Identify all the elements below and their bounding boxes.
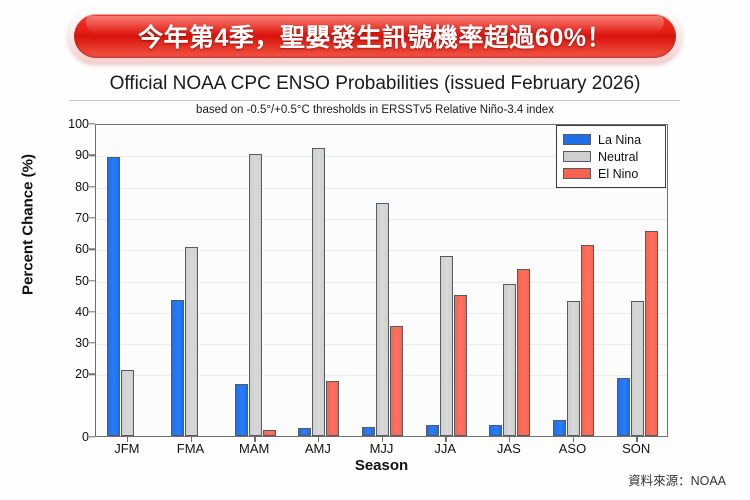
x-tick-label-jfm: JFM xyxy=(92,441,162,456)
headline-banner: 今年第4季，聖嬰發生訊號機率超過60%！ xyxy=(68,9,682,63)
y-tick-label: 30 xyxy=(45,336,89,350)
bar-mam-el-nino xyxy=(263,430,276,436)
x-tick-label-mjj: MJJ xyxy=(347,441,417,456)
bar-son-el-nino xyxy=(645,231,658,436)
bar-jas-el-nino xyxy=(517,269,530,436)
y-tick-label: 90 xyxy=(45,148,89,162)
bar-amj-el-nino xyxy=(326,381,339,436)
x-tick-label-aso: ASO xyxy=(538,441,608,456)
bar-jfm-neutral xyxy=(121,370,134,436)
slide-root: 今年第4季，聖嬰發生訊號機率超過60%！ Official NOAA CPC E… xyxy=(0,0,750,500)
bar-amj-la-nina xyxy=(298,428,311,436)
y-tick-label: 80 xyxy=(45,180,89,194)
bar-jja-el-nino xyxy=(454,295,467,436)
bar-jja-neutral xyxy=(440,256,453,436)
bar-jja-la-nina xyxy=(426,425,439,436)
x-tick-label-jas: JAS xyxy=(474,441,544,456)
y-tick-label: 40 xyxy=(45,305,89,319)
bar-aso-la-nina xyxy=(553,420,566,436)
bar-mjj-el-nino xyxy=(390,326,403,436)
legend-item-la-nina[interactable]: La Nina xyxy=(563,131,659,148)
bar-aso-neutral xyxy=(567,301,580,436)
x-tick-label-mam: MAM xyxy=(219,441,289,456)
chart-subtitle: based on -0.5°/+0.5°C thresholds in ERSS… xyxy=(0,104,750,116)
bar-mam-la-nina xyxy=(235,384,248,436)
banner-text: 今年第4季，聖嬰發生訊號機率超過60%！ xyxy=(68,9,682,63)
x-tick-label-amj: AMJ xyxy=(283,441,353,456)
bar-mam-neutral xyxy=(249,154,262,436)
bar-jas-neutral xyxy=(503,284,516,436)
legend-item-neutral[interactable]: Neutral xyxy=(563,148,659,165)
legend-swatch-icon xyxy=(563,134,591,145)
bar-son-la-nina xyxy=(617,378,630,436)
legend-label: La Nina xyxy=(598,133,641,147)
y-tick-label: 20 xyxy=(45,367,89,381)
x-tick-label-jja: JJA xyxy=(410,441,480,456)
chart-title: Official NOAA CPC ENSO Probabilities (is… xyxy=(0,73,750,95)
source-credit: 資料來源：NOAA xyxy=(628,470,726,489)
y-tick-label: 60 xyxy=(45,242,89,256)
legend-swatch-icon xyxy=(563,168,591,179)
y-axis-title: Percent Chance (%) xyxy=(20,115,37,335)
y-tick-label: 0 xyxy=(45,430,89,444)
legend-label: El Nino xyxy=(598,167,638,181)
legend-item-el-nino[interactable]: El Nino xyxy=(563,165,659,182)
bar-jas-la-nina xyxy=(489,425,502,436)
x-tick-label-fma: FMA xyxy=(156,441,226,456)
bar-son-neutral xyxy=(631,301,644,436)
y-tick-label: 70 xyxy=(45,211,89,225)
bar-fma-neutral xyxy=(185,247,198,436)
x-tick-label-son: SON xyxy=(601,441,671,456)
x-axis-title: Season xyxy=(95,457,668,474)
legend-swatch-icon xyxy=(563,151,591,162)
bar-mjj-la-nina xyxy=(362,427,375,436)
y-tick-label: 100 xyxy=(45,117,89,131)
y-tick-label: 50 xyxy=(45,274,89,288)
bar-fma-la-nina xyxy=(171,300,184,436)
bar-mjj-neutral xyxy=(376,203,389,436)
bar-aso-el-nino xyxy=(581,245,594,436)
legend-label: Neutral xyxy=(598,150,638,164)
title-divider xyxy=(70,100,680,101)
chart-legend: La NinaNeutralEl Nino xyxy=(556,125,666,188)
bar-amj-neutral xyxy=(312,148,325,436)
bar-jfm-la-nina xyxy=(107,157,120,436)
